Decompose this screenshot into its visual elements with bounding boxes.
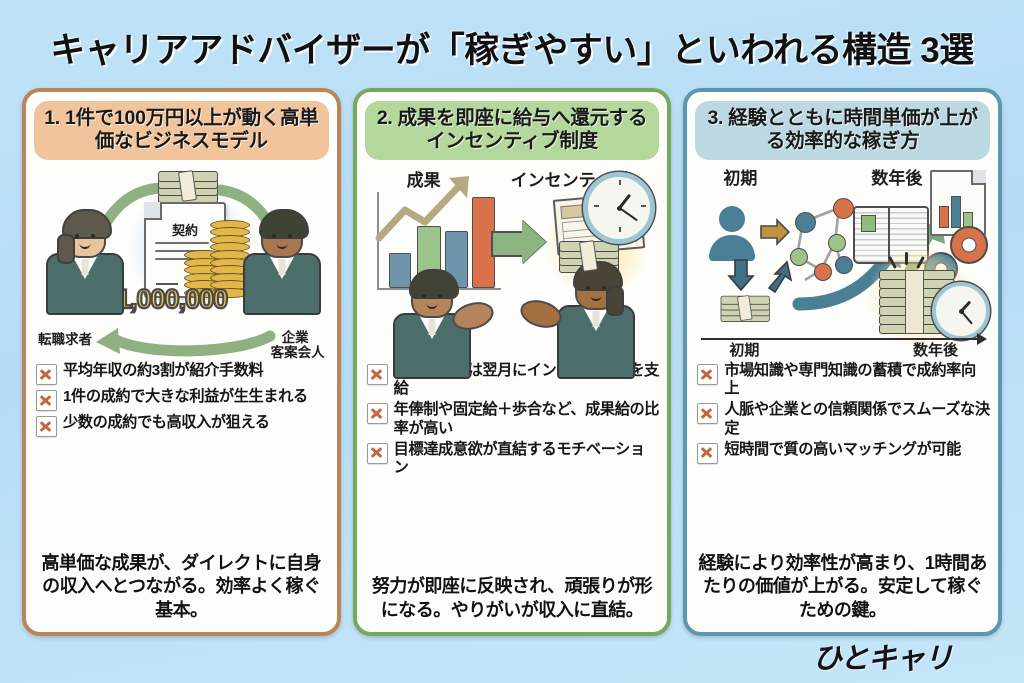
panel-2-illustration: 成果 インセンティブ <box>363 164 662 360</box>
bullet-text: 平均年収の約3割が紹介手数料 <box>63 362 263 380</box>
people-icon <box>956 639 1008 673</box>
bullet-text: 年俸制や固定給＋歩合など、成果給の比率が高い <box>394 401 660 437</box>
check-x-icon <box>367 364 388 385</box>
amount-value: 1,000,000 <box>116 284 227 315</box>
check-x-icon <box>697 443 718 464</box>
jobseeker-avatar <box>46 212 124 315</box>
panel-1-illustration: 契約 <box>32 164 331 360</box>
bullet-text: 少数の成約でも高収入が狙える <box>63 414 270 432</box>
company-label-line2: 客案会人 <box>271 345 325 360</box>
bullet-text: 短時間で質の高いマッチングが可能 <box>724 441 961 459</box>
clock-icon <box>932 282 990 340</box>
company-label-line1: 企業 <box>282 330 309 345</box>
bullet-text: 人脈や企業との信頼関係でスムーズな決定 <box>724 401 990 437</box>
infographic-root: キャリアアドバイザーが「稼ぎやすい」といわれる構造 3選 1. 1件で100万円… <box>0 0 1024 683</box>
panel-2-heading: 2. 成果を即座に給与へ還元するインセンティブ制度 <box>365 101 660 160</box>
check-x-icon <box>367 443 388 464</box>
advisor-avatar-right <box>557 264 635 379</box>
panel-hourly-rate-growth[interactable]: 3. 経験とともに時間単価が上がる効率的な稼ぎ方 初期 数年後 <box>683 88 1002 636</box>
panel-1-heading: 1. 1件で100万円以上が動く高単価なビジネスモデル <box>34 101 329 160</box>
check-x-icon <box>36 390 57 411</box>
company-rep-avatar <box>243 212 321 315</box>
bullet-item[interactable]: 目標達成意欲が直結するモチベーション <box>367 441 660 477</box>
panels-container: 1. 1件で100万円以上が動く高単価なビジネスモデル <box>22 88 1002 636</box>
ponytail <box>57 234 75 264</box>
sparkle <box>905 252 908 265</box>
check-x-icon <box>36 364 57 385</box>
bullet-text: 1件の成約で大きな利益が生生まれる <box>63 388 308 406</box>
page-title: キャリアアドバイザーが「稼ぎやすい」といわれる構造 3選 <box>0 22 1024 73</box>
payslip-title-box <box>560 204 585 219</box>
bullet-item[interactable]: 平均年収の約3割が紹介手数料 <box>36 362 329 385</box>
panel-2-summary: 努力が即座に反映され、頑張りが形になる。やりがいが収入に直結。 <box>367 575 658 622</box>
panel-1-bullets: 平均年収の約3割が紹介手数料 1件の成約で大きな利益が生生まれる 少数の成約でも… <box>36 362 329 437</box>
panel-high-unit-price[interactable]: 1. 1件で100万円以上が動く高単価なビジネスモデル <box>22 88 341 636</box>
cash-bundle-icon <box>721 295 772 321</box>
bullet-text: 目標達成意欲が直結するモチベーション <box>394 441 660 477</box>
bullet-item[interactable]: 市場知識や専門知識の蓄積で成約率向上 <box>697 362 990 398</box>
advisor-avatar-left <box>393 272 471 379</box>
panel-3-illustration: 初期 数年後 <box>693 164 992 360</box>
check-x-icon <box>697 364 718 385</box>
trend-arrow <box>375 172 487 252</box>
panel-3-heading: 3. 経験とともに時間単価が上がる効率的な稼ぎ方 <box>695 101 990 160</box>
jobseeker-label: 転職求者 <box>38 332 92 347</box>
axis-label-early: 初期 <box>729 343 759 360</box>
axis-label-later: 数年後 <box>913 343 958 360</box>
bullet-item[interactable]: 1件の成約で大きな利益が生生まれる <box>36 388 329 411</box>
panel-1-summary: 高単価な成果が、ダイレクトに自身の収入へとつながる。効率よく稼ぐ基本。 <box>36 552 327 622</box>
brand-logo[interactable]: ひとキャリ <box>813 635 1008 677</box>
bullet-text: 市場知識や専門知識の蓄積で成約率向上 <box>724 362 990 398</box>
bullet-item[interactable]: 年俸制や固定給＋歩合など、成果給の比率が高い <box>367 401 660 437</box>
logo-text: ひとキャリ <box>813 635 952 677</box>
check-x-icon <box>36 416 57 437</box>
gear-icon-large <box>950 226 988 264</box>
report-document <box>930 170 986 236</box>
panel-3-bullets: 市場知識や専門知識の蓄積で成約率向上 人脈や企業との信頼関係でスムーズな決定 短… <box>697 362 990 464</box>
panel-incentive-system[interactable]: 2. 成果を即座に給与へ還元するインセンティブ制度 成果 インセンティブ <box>353 88 672 636</box>
page-fold <box>144 202 162 220</box>
bullet-item[interactable]: 人脈や企業との信頼関係でスムーズな決定 <box>697 401 990 437</box>
check-x-icon <box>367 403 388 424</box>
conversion-arrow <box>491 220 549 264</box>
panel-2-bullets: 成約月または翌月にインセンティブを支給 年俸制や固定給＋歩合など、成果給の比率が… <box>367 362 660 477</box>
bullet-item[interactable]: 少数の成約でも高収入が狙える <box>36 414 329 437</box>
check-x-icon <box>697 403 718 424</box>
cash-bundle-icon <box>158 170 220 202</box>
panel-3-summary: 経験により効率性が高まり、1時間あたりの価値が上がる。安定して稼ぐための鍵。 <box>697 552 988 622</box>
timeline-axis <box>701 338 978 340</box>
clock-icon <box>583 172 655 244</box>
bullet-item[interactable]: 短時間で質の高いマッチングが可能 <box>697 441 990 464</box>
